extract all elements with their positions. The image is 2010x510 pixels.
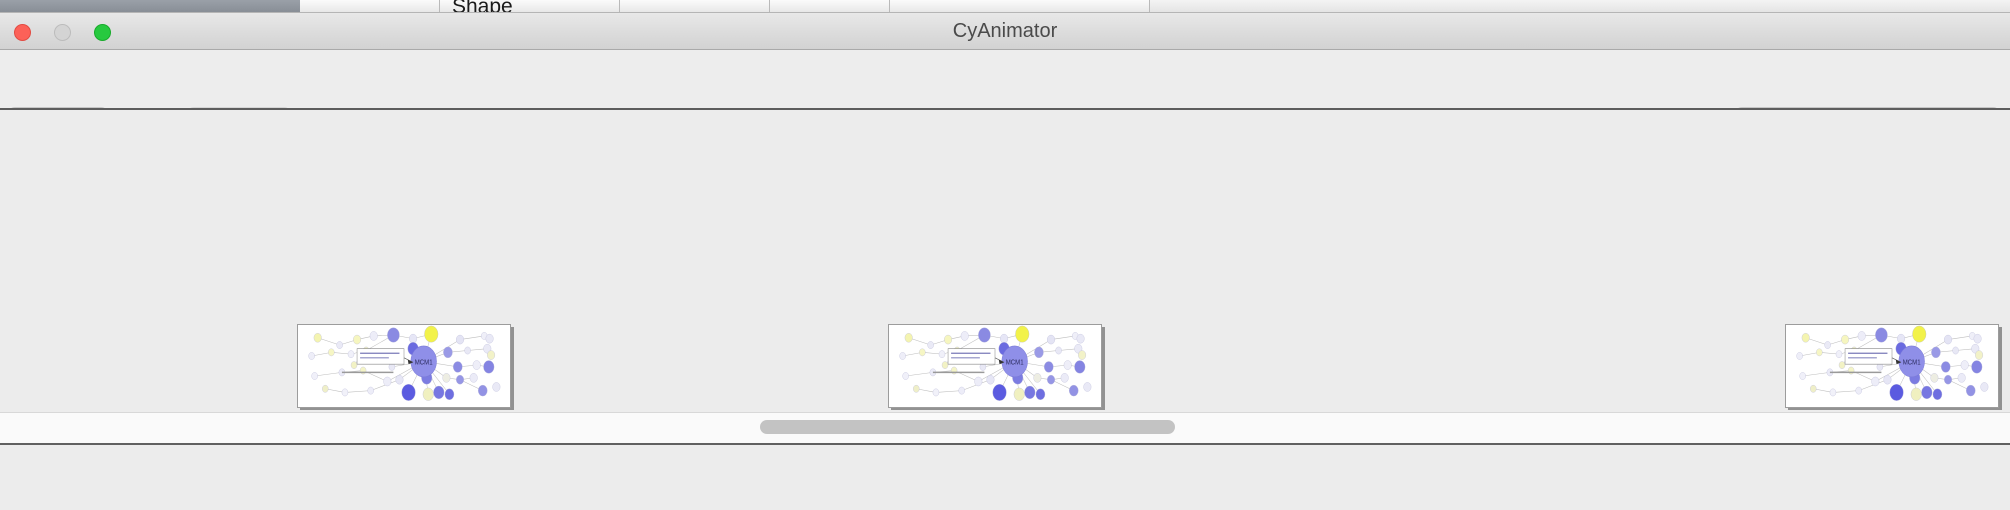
svg-text:MCM1: MCM1	[415, 359, 433, 367]
frame-thumbnail[interactable]: MCM1	[888, 324, 1102, 408]
timeline-panel[interactable]: MCM1MCM1MCM1 21314151617 Seconds	[0, 110, 2010, 410]
playback-toolbar: Animation Speed:	[0, 445, 2010, 510]
timeline-scrollbar[interactable]	[0, 412, 2010, 444]
window-title: CyAnimator	[0, 13, 2010, 50]
svg-text:MCM1: MCM1	[1903, 359, 1921, 367]
background-window-strip: Shape	[0, 0, 2010, 13]
frame-thumbnail[interactable]: MCM1	[297, 324, 511, 408]
cyanimator-window: Shape CyAnimator ✚ Clear All Frames MCM1…	[0, 0, 2010, 510]
svg-text:MCM1: MCM1	[1006, 359, 1024, 367]
frame-thumbnail[interactable]: MCM1	[1785, 324, 1999, 408]
frame-toolbar: ✚ Clear All Frames	[0, 50, 2010, 110]
timeline-scrollbar-thumb[interactable]	[760, 420, 1175, 434]
window-titlebar: CyAnimator	[0, 13, 2010, 50]
